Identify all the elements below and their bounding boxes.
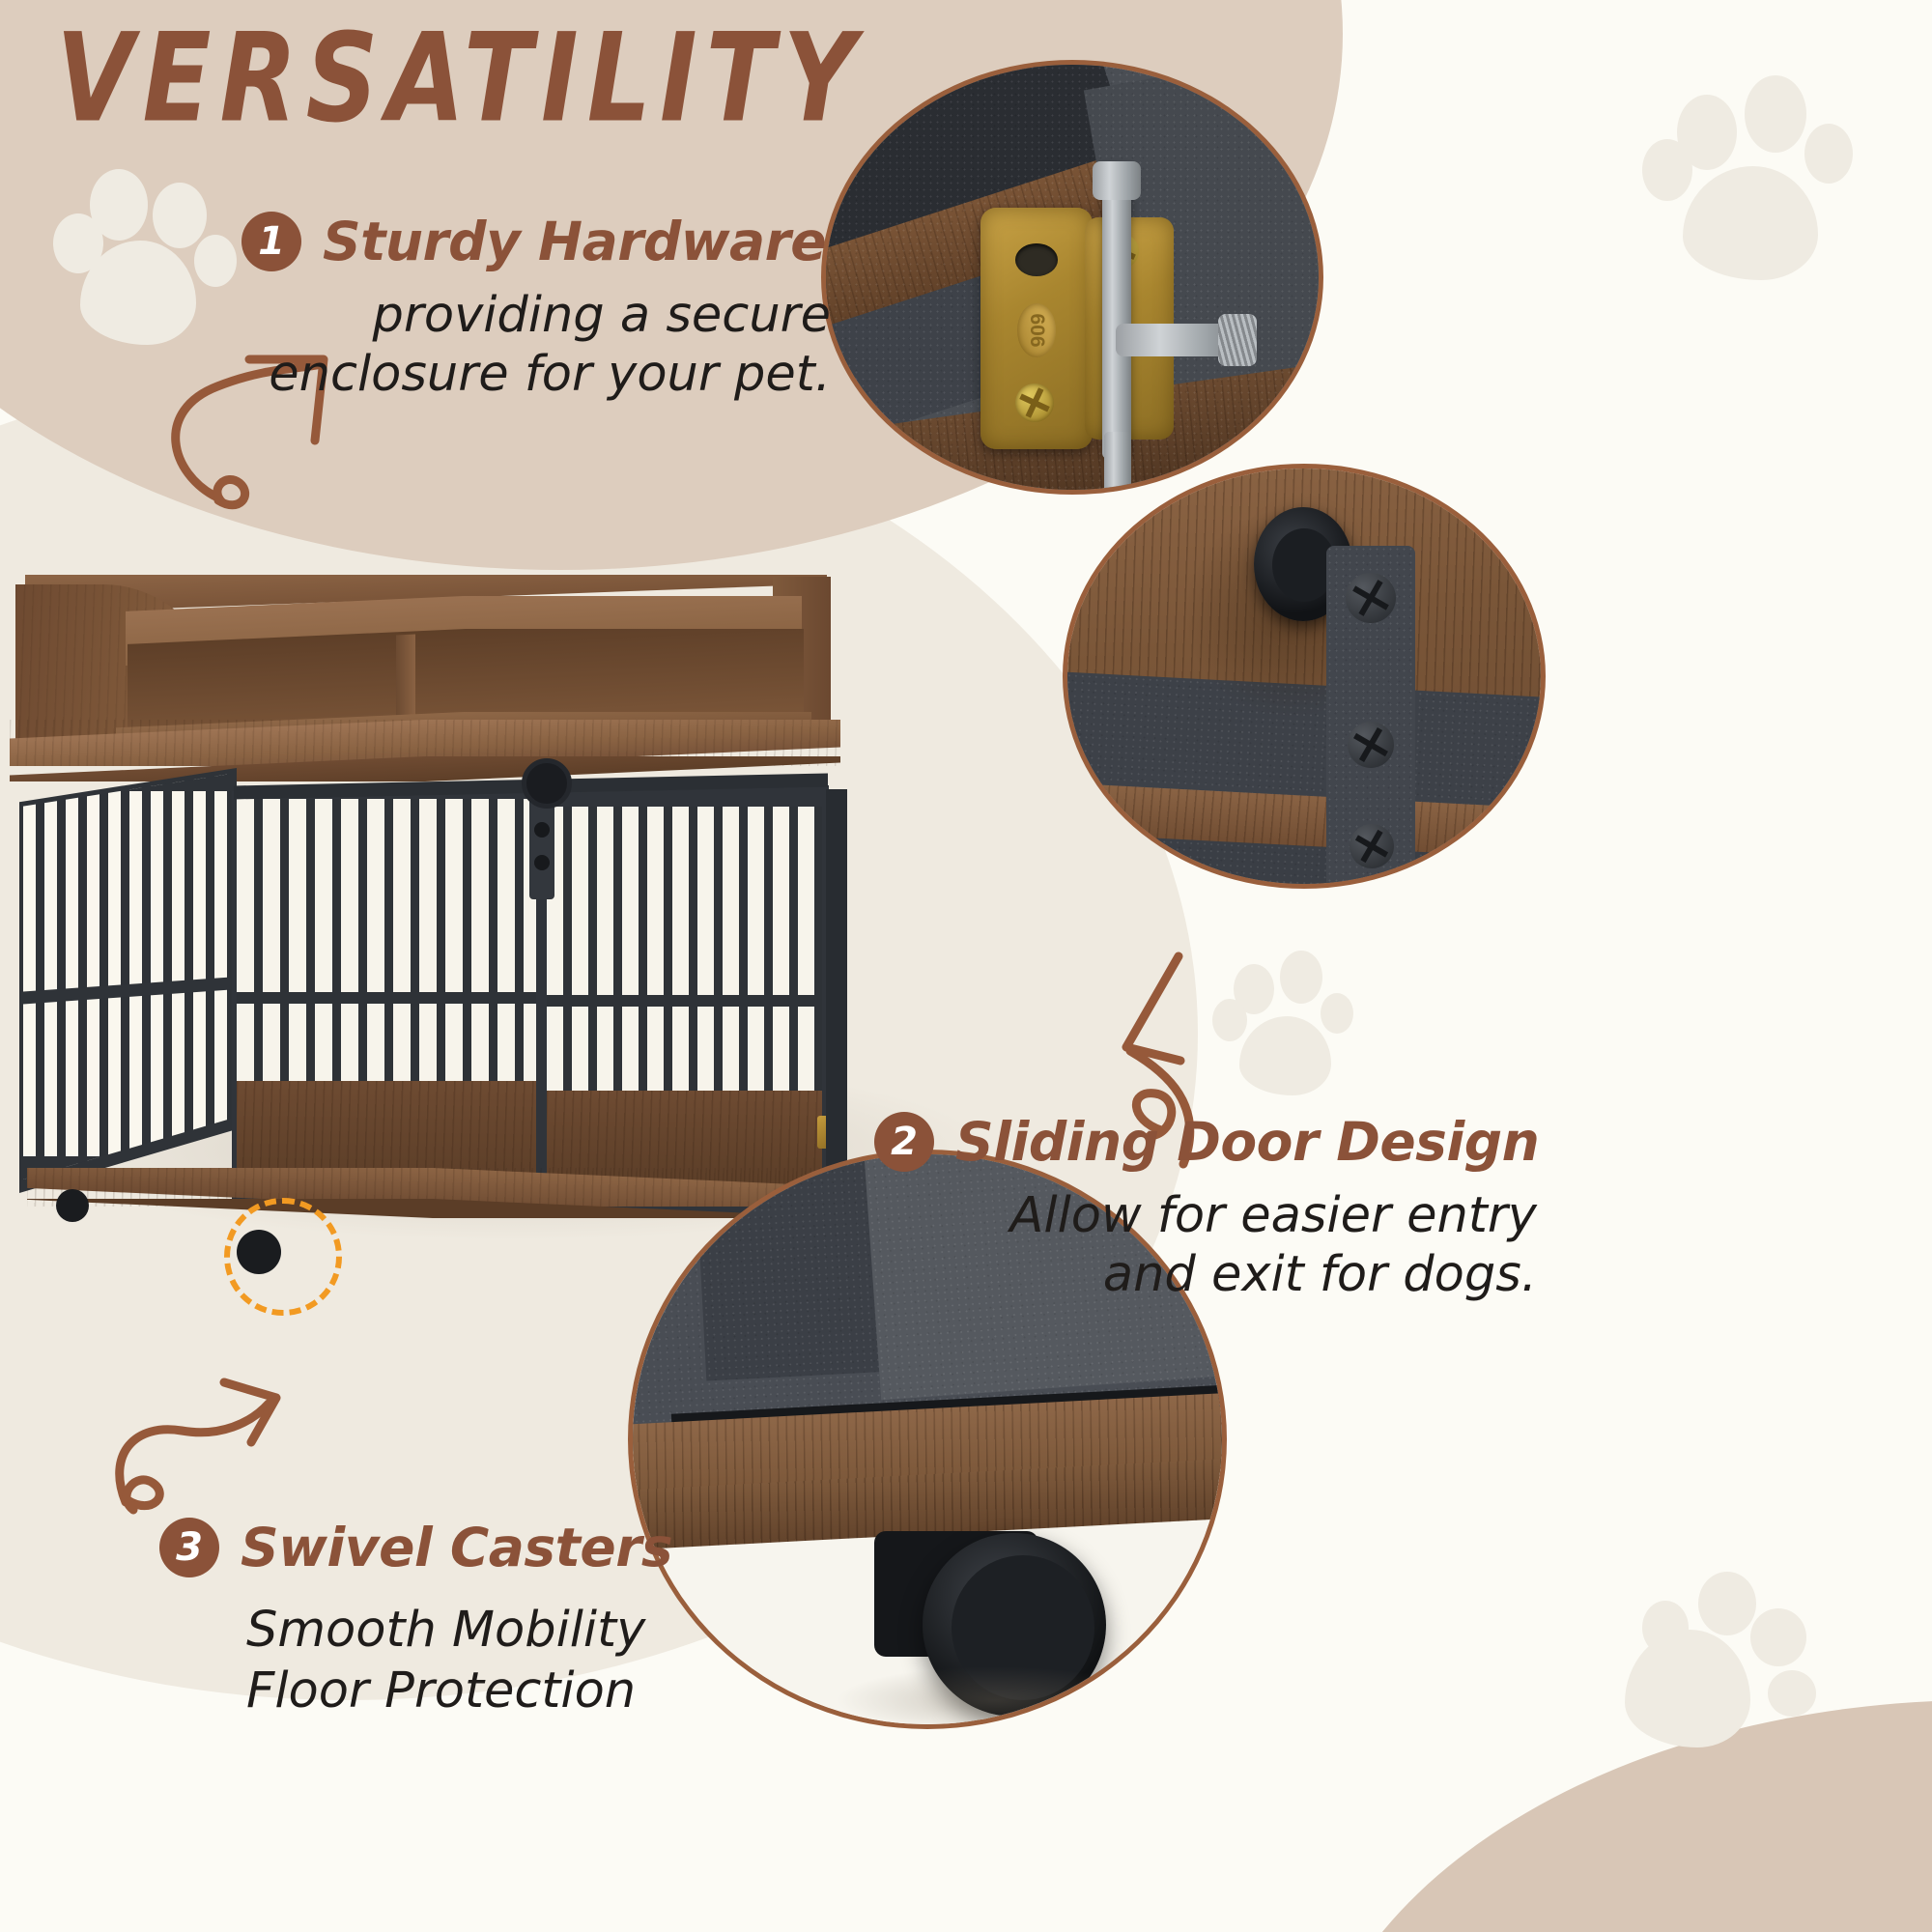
strap-screw-bottom-icon <box>1350 824 1394 868</box>
paw-print-bottom-right <box>1623 1570 1816 1763</box>
feature-3-heading: 3 Swivel Casters <box>159 1517 700 1578</box>
feature-1-desc-line1: providing a secure <box>241 286 831 345</box>
feature-block-1: 1 Sturdy Hardware providing a secure enc… <box>241 211 840 404</box>
feature-1-number-badge: 1 <box>241 212 301 271</box>
feature-3-desc-line2: Floor Protection <box>246 1661 700 1721</box>
feature-2-title: Sliding Door Design <box>955 1111 1539 1173</box>
feature-2-description: Allow for easier entry and exit for dogs… <box>874 1186 1541 1304</box>
feature-3-number-badge: 3 <box>159 1518 219 1577</box>
feature-2-heading: 2 Sliding Door Design <box>874 1111 1541 1173</box>
feature-2-desc-line2: and exit for dogs. <box>874 1245 1537 1304</box>
caster-highlight-ring <box>224 1198 342 1316</box>
feature-2-number-badge: 2 <box>874 1112 934 1172</box>
page-title: VERSATILITY <box>56 6 865 150</box>
feature-3-title: Swivel Casters <box>241 1517 672 1578</box>
feature-block-3: 3 Swivel Casters Smooth Mobility Floor P… <box>159 1517 700 1721</box>
strap-screw-mid-icon <box>1348 722 1394 768</box>
knurled-knob <box>1218 314 1257 366</box>
feature-3-description: Smooth Mobility Floor Protection <box>159 1600 700 1721</box>
feature-1-heading: 1 Sturdy Hardware <box>241 211 840 272</box>
feature-1-description: providing a secure enclosure for your pe… <box>241 286 840 404</box>
background-blob-bottom-right <box>1304 1700 1932 1932</box>
strap-screw-top-icon <box>1346 573 1396 623</box>
sturdy-hardware-detail-photo: 606 <box>821 60 1323 495</box>
feature-1-title: Sturdy Hardware <box>323 211 826 272</box>
infographic-canvas: VERSATILITY <box>0 0 1932 1932</box>
feature-block-2: 2 Sliding Door Design Allow for easier e… <box>874 1111 1541 1304</box>
feature-3-desc-line1: Smooth Mobility <box>246 1600 700 1661</box>
feature-1-desc-line2: enclosure for your pet. <box>241 345 831 404</box>
paw-print-top-right <box>1642 66 1845 264</box>
caster-front-left <box>56 1189 89 1222</box>
sliding-door-detail-photo <box>1063 464 1546 889</box>
curved-arrow-caster <box>106 1309 328 1521</box>
brass-stamp-606: 606 <box>1017 303 1056 357</box>
steel-bolt-rod <box>1102 169 1131 459</box>
screw-bottom-icon <box>1015 384 1054 422</box>
feature-2-desc-line1: Allow for easier entry <box>874 1186 1537 1245</box>
